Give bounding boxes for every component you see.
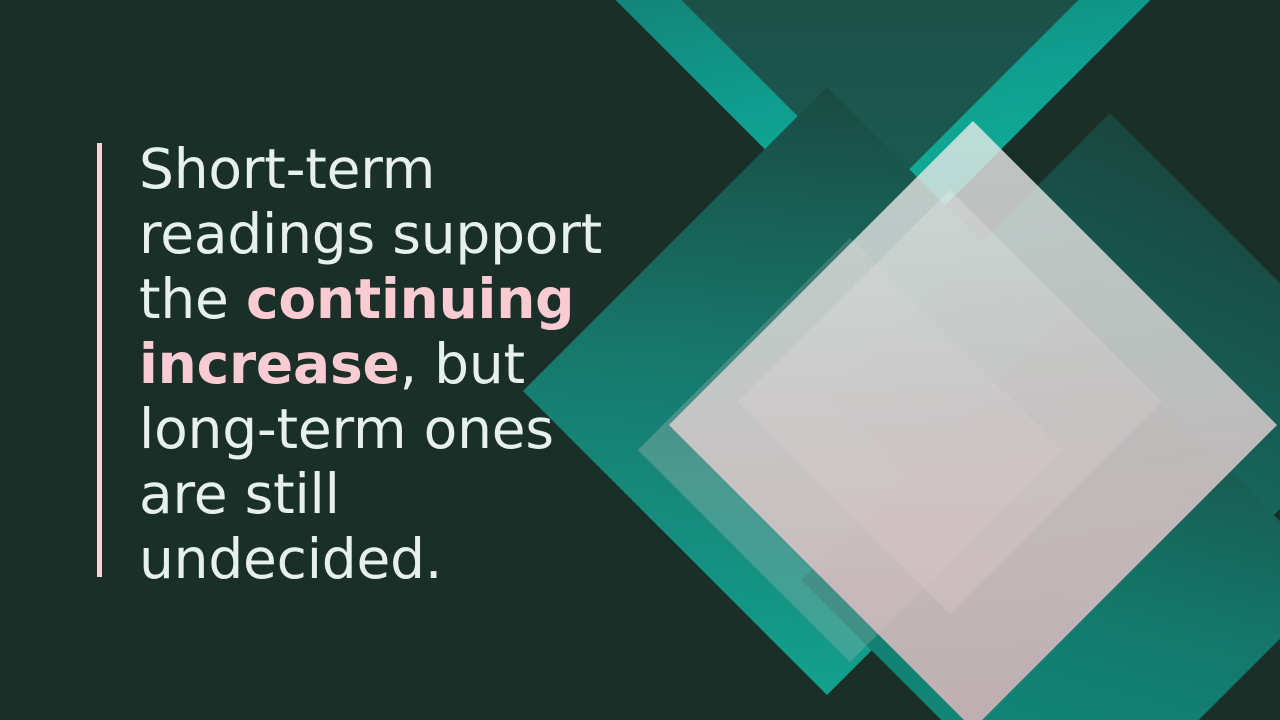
- teal-diamond-lower-icon: [801, 311, 1280, 720]
- teal-diamond-right-icon: [827, 113, 1280, 679]
- teal-diamond-top-inner-icon: [625, 0, 1134, 199]
- pink-diamond-inner-icon: [738, 190, 1162, 614]
- pink-diamond-large-icon: [669, 121, 1277, 720]
- quote-text: Short-term readings support the continui…: [139, 137, 659, 592]
- quote-slide: Short-term readings support the continui…: [0, 0, 1280, 720]
- left-accent-bar: [97, 143, 102, 577]
- grey-wedge-icon: [638, 238, 1062, 662]
